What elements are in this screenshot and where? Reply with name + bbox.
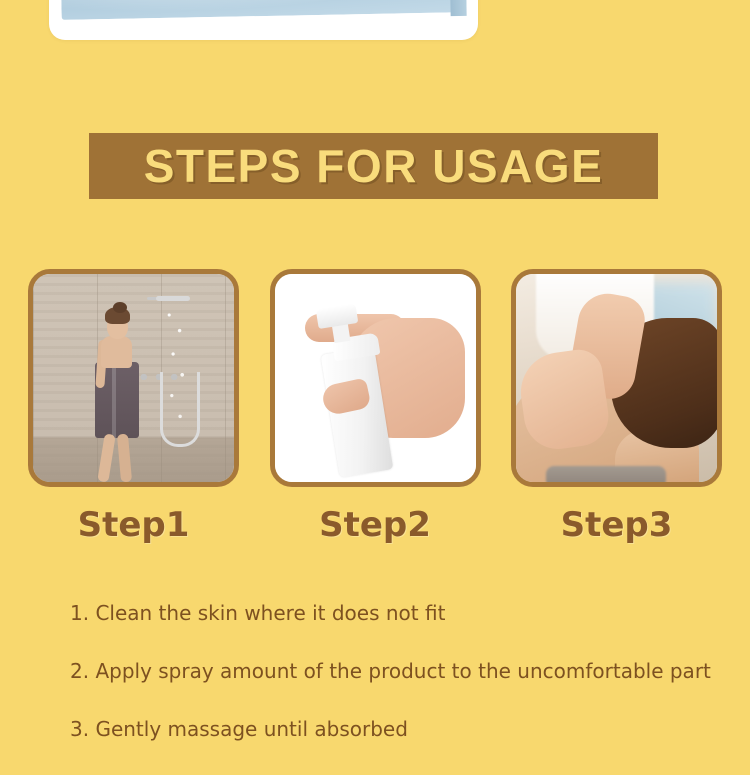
torso (101, 336, 132, 368)
step-card-2 (270, 269, 481, 487)
instruction-item-3: 3. Gently massage until absorbed (70, 717, 710, 741)
step-label-2: Step2 (270, 505, 481, 545)
package-pattern-icon (60, 0, 466, 20)
instruction-item-1: 1. Clean the skin where it does not fit (70, 601, 710, 625)
spray-bottle-photo (275, 274, 476, 482)
shower-photo (33, 274, 234, 482)
product-photo-card (49, 0, 478, 40)
steps-row: Step1 Step2 (28, 269, 722, 545)
section-title-text: STEPS FOR USAGE (144, 139, 604, 193)
massage-towel (546, 466, 666, 487)
package-edge (449, 0, 466, 16)
step-label-3: Step3 (511, 505, 722, 545)
massage-photo (516, 274, 717, 482)
shower-hose (160, 372, 200, 447)
step-column-1: Step1 (28, 269, 239, 545)
step-card-1 (28, 269, 239, 487)
shower-head-icon (156, 296, 190, 301)
step-card-3 (511, 269, 722, 487)
section-title-banner: STEPS FOR USAGE (89, 133, 658, 199)
step-column-3: Step3 (511, 269, 722, 545)
instruction-item-2: 2. Apply spray amount of the product to … (70, 659, 710, 683)
product-package-image (60, 0, 466, 20)
step-column-2: Step2 (270, 269, 481, 545)
step-label-1: Step1 (28, 505, 239, 545)
instruction-list: 1. Clean the skin where it does not fit … (70, 601, 710, 775)
hair-bun (113, 302, 127, 313)
